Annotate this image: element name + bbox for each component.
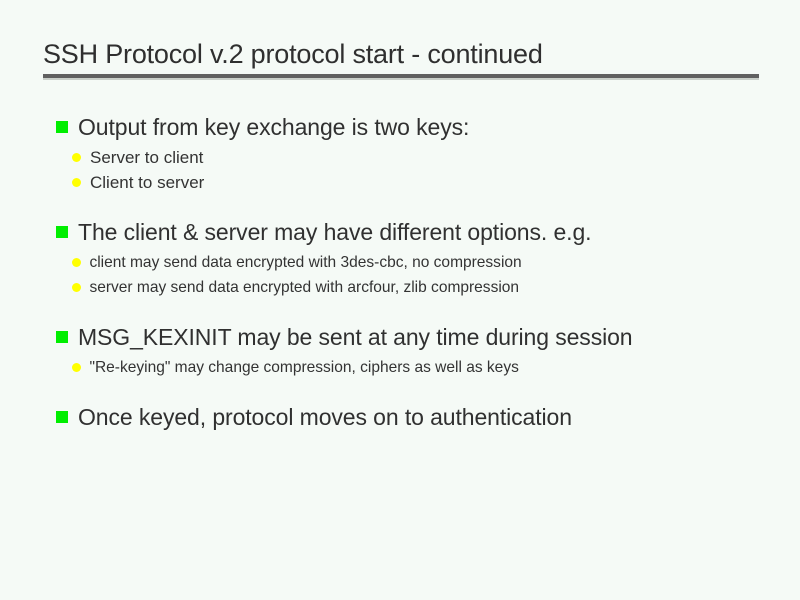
bullet-level2-label: Server to client: [72, 145, 203, 170]
square-bullet-icon: [56, 411, 68, 423]
bullet-level1-label: MSG_KEXINIT may be sent at any time duri…: [56, 322, 633, 353]
bullet-group: MSG_KEXINIT may be sent at any time duri…: [0, 322, 800, 380]
square-bullet-icon: [56, 226, 68, 238]
bullet-group: Output from key exchange is two keys: Se…: [0, 112, 800, 195]
square-bullet-icon: [56, 331, 68, 343]
bullet-level2-label: "Re-keying" may change compression, ciph…: [72, 355, 519, 380]
bullet-level2: "Re-keying" may change compression, ciph…: [0, 355, 800, 380]
bullet-level2-label: client may send data encrypted with 3des…: [72, 250, 522, 275]
slide-body: Output from key exchange is two keys: Se…: [0, 112, 800, 435]
title-block: SSH Protocol v.2 protocol start - contin…: [43, 38, 760, 70]
dot-bullet-icon: [72, 153, 81, 162]
bullet-level2: Server to client: [0, 145, 800, 170]
bullet-level1-label: Once keyed, protocol moves on to authent…: [56, 402, 572, 433]
bullet-level1: Output from key exchange is two keys:: [0, 112, 800, 143]
bullet-level1-label: The client & server may have different o…: [56, 217, 591, 248]
bullet-level1: MSG_KEXINIT may be sent at any time duri…: [0, 322, 800, 353]
bullet-group: Once keyed, protocol moves on to authent…: [0, 402, 800, 433]
square-bullet-icon: [56, 121, 68, 133]
bullet-group: The client & server may have different o…: [0, 217, 800, 300]
bullet-level1: Once keyed, protocol moves on to authent…: [0, 402, 800, 433]
slide: SSH Protocol v.2 protocol start - contin…: [0, 0, 800, 600]
bullet-level2-label: server may send data encrypted with arcf…: [72, 275, 519, 300]
page-title: SSH Protocol v.2 protocol start - contin…: [43, 38, 760, 70]
bullet-level1-label: Output from key exchange is two keys:: [56, 112, 469, 143]
bullet-level1: The client & server may have different o…: [0, 217, 800, 248]
title-divider: [43, 74, 759, 80]
bullet-level2: Client to server: [0, 170, 800, 195]
bullet-level2-label: Client to server: [72, 170, 204, 195]
bullet-level2: server may send data encrypted with arcf…: [0, 275, 800, 300]
bullet-level2: client may send data encrypted with 3des…: [0, 250, 800, 275]
dot-bullet-icon: [72, 178, 81, 187]
